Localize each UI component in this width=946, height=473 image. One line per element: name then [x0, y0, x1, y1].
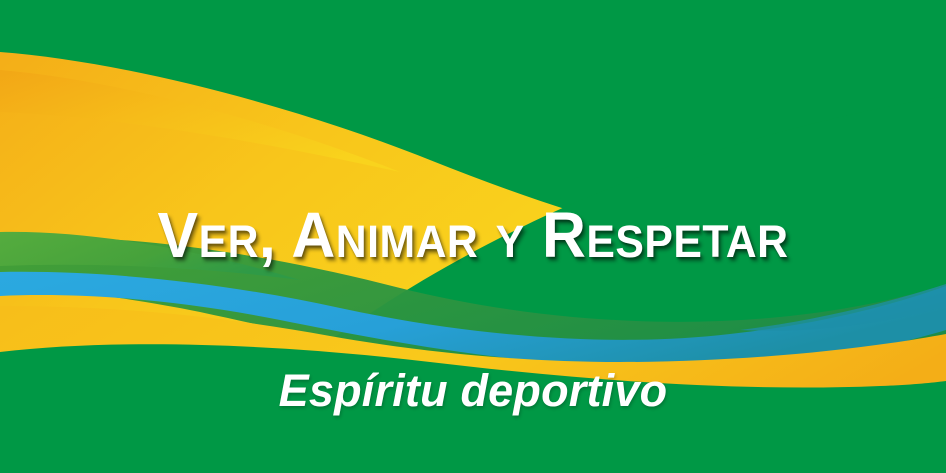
banner-headline: Ver, Animar y Respetar: [24, 203, 923, 267]
sports-banner: Ver, Animar y Respetar Espíritu deportiv…: [0, 0, 946, 473]
banner-subtitle: Espíritu deportivo: [0, 368, 946, 413]
text-layer: Ver, Animar y Respetar Espíritu deportiv…: [0, 0, 946, 473]
